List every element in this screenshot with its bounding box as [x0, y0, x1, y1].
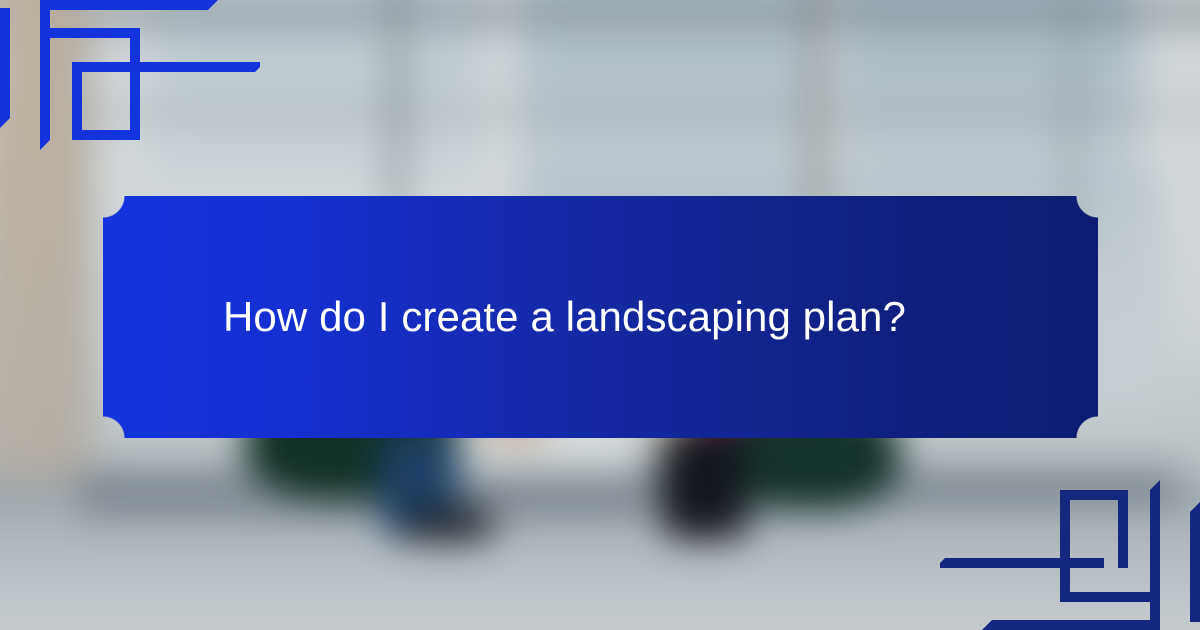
headline-text: How do I create a landscaping plan?	[103, 196, 1098, 438]
banner-card: How do I create a landscaping plan?	[0, 0, 1200, 630]
seated-person-right-foot	[660, 505, 752, 539]
window-pane	[840, 0, 1140, 190]
beige-column-lower	[0, 110, 80, 530]
window-mullion-horizontal	[0, 110, 1200, 119]
seated-person-left-foot	[400, 508, 496, 542]
window-mullion-vertical	[390, 0, 404, 220]
window-mullion-horizontal	[0, 6, 1200, 22]
window-pane	[150, 0, 480, 180]
bench	[80, 500, 640, 522]
headline-banner: How do I create a landscaping plan?	[103, 196, 1098, 438]
